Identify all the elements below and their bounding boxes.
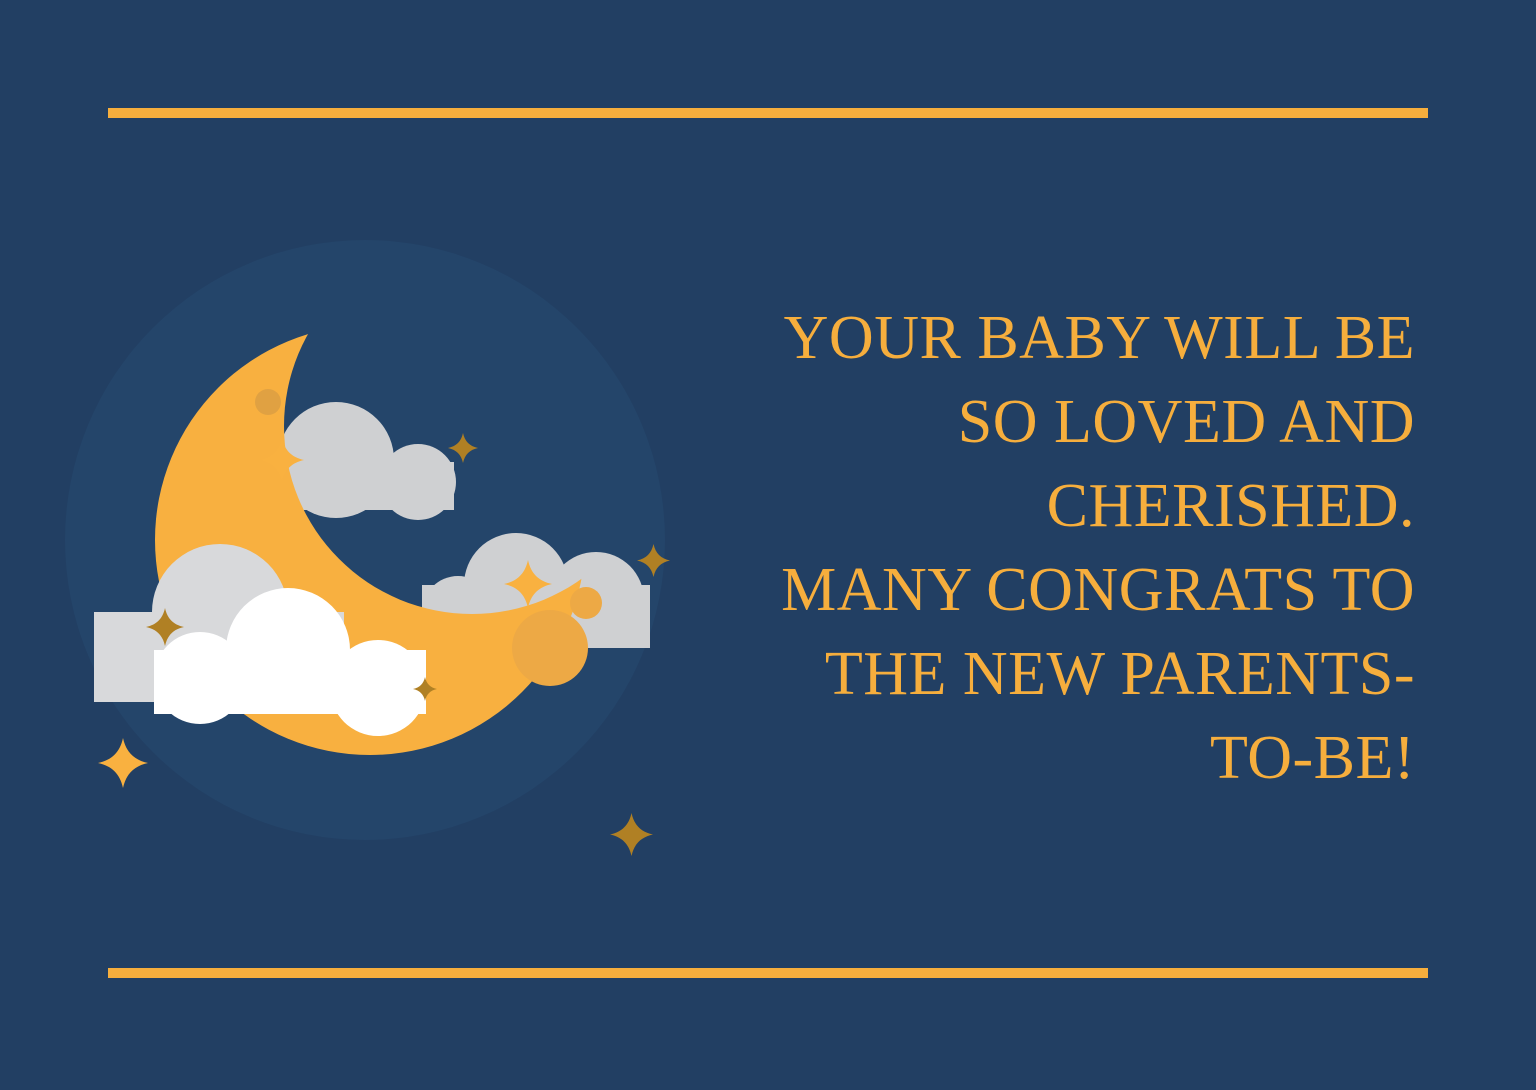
crescent-moon [40, 180, 700, 860]
top-divider-rule [108, 108, 1428, 118]
bottom-divider-rule [108, 968, 1428, 978]
moon-crater-small-top [255, 389, 281, 415]
moon-crater-small-right [570, 587, 602, 619]
greeting-card: YOUR BABY WILL BE SO LOVED AND CHERISHED… [0, 0, 1536, 1090]
moon-illustration [40, 180, 700, 860]
greeting-message: YOUR BABY WILL BE SO LOVED AND CHERISHED… [735, 296, 1415, 800]
moon-crater-large [512, 610, 588, 686]
